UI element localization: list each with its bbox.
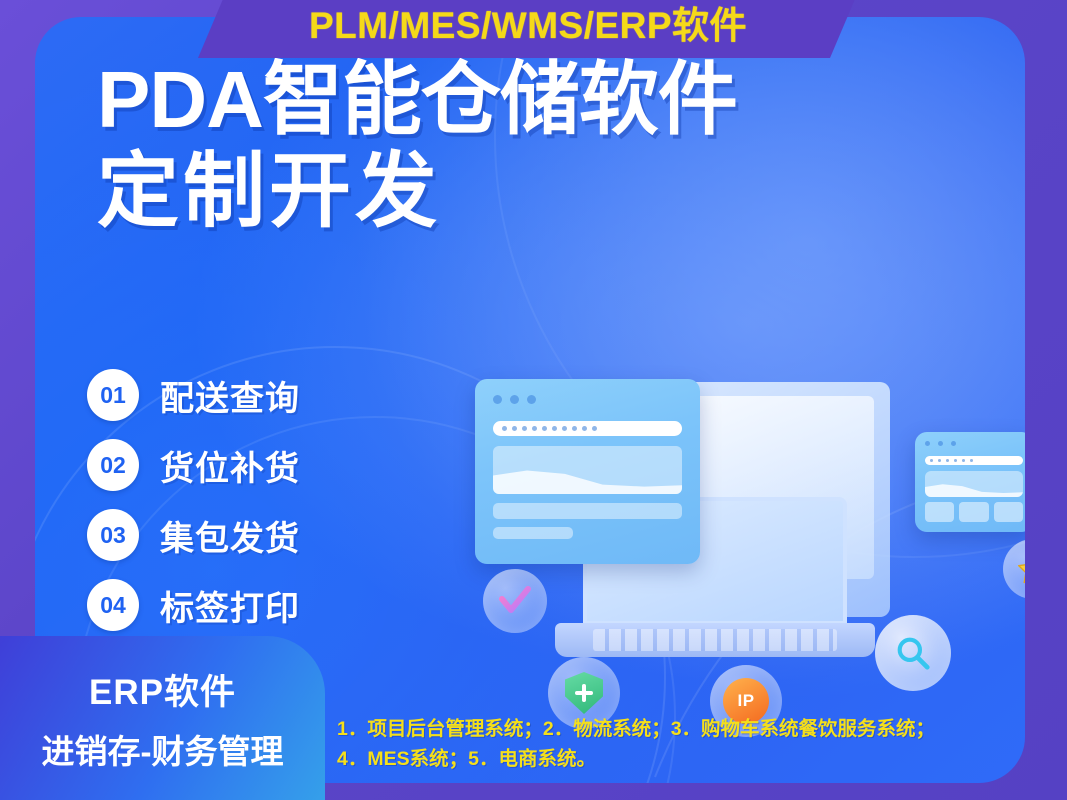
system-notes-line-1: 1．项目后台管理系统；2．物流系统；3．购物车系统餐饮服务系统； (337, 714, 1067, 744)
window-dot (938, 441, 943, 446)
search-icon (875, 615, 951, 691)
feature-number: 03 (87, 509, 139, 561)
feature-number: 01 (87, 369, 139, 421)
window-dots (493, 395, 536, 404)
window-tiles (925, 502, 1023, 522)
bar-dot (502, 426, 507, 431)
check-icon (483, 569, 547, 633)
bar-dot (542, 426, 547, 431)
feature-label: 配送查询 (160, 371, 300, 420)
feature-item-02: 02 货位补货 (87, 439, 300, 491)
erp-panel-subtitle: 进销存-财务管理 (42, 725, 284, 773)
headline-line-1: PDA智能仓储软件 (97, 59, 737, 141)
bar-dot (954, 459, 957, 462)
poster-stage: IP PDA智能仓储软件 定制开发 01 配送查询 (0, 0, 1067, 800)
chart-wave (925, 479, 1023, 497)
tile (959, 502, 988, 522)
window-dot (951, 441, 956, 446)
window-chart (493, 446, 682, 494)
feature-number: 02 (87, 439, 139, 491)
bar-dot (592, 426, 597, 431)
window-row (493, 527, 573, 539)
illustration: IP (435, 347, 1025, 737)
tile (925, 502, 954, 522)
window-chart (925, 471, 1023, 497)
window-row (493, 503, 682, 519)
feature-item-03: 03 集包发货 (87, 509, 300, 561)
headline-line-2: 定制开发 (97, 149, 737, 235)
bar-dot (532, 426, 537, 431)
erp-panel-title: ERP软件 (89, 664, 236, 715)
bar-dot (970, 459, 973, 462)
window-dots (925, 441, 956, 446)
star-icon (1003, 539, 1025, 599)
feature-list: 01 配送查询 02 货位补货 03 集包发货 04 标签打印 (87, 369, 300, 649)
window-dot (925, 441, 930, 446)
tile (994, 502, 1023, 522)
laptop-keyboard (593, 629, 837, 651)
bar-dot (938, 459, 941, 462)
feature-item-01: 01 配送查询 (87, 369, 300, 421)
bar-dot (582, 426, 587, 431)
system-notes: 1．项目后台管理系统；2．物流系统；3．购物车系统餐饮服务系统； 4．MES系统… (337, 714, 1067, 774)
shield-shape (565, 672, 603, 714)
address-bar (925, 456, 1023, 465)
erp-panel: ERP软件 进销存-财务管理 (0, 636, 325, 800)
bar-dot (930, 459, 933, 462)
bar-dot (572, 426, 577, 431)
bar-dot (562, 426, 567, 431)
bar-dot (946, 459, 949, 462)
feature-number: 04 (87, 579, 139, 631)
feature-label: 标签打印 (160, 581, 300, 630)
chart-wave (493, 460, 682, 494)
address-bar (493, 421, 682, 436)
feature-item-04: 04 标签打印 (87, 579, 300, 631)
bar-dot (512, 426, 517, 431)
bar-dot (522, 426, 527, 431)
browser-window-small (915, 432, 1025, 532)
window-dot (510, 395, 519, 404)
bar-dot (552, 426, 557, 431)
ribbon-label: PLM/MES/WMS/ERP软件 (309, 7, 747, 44)
bar-dot (962, 459, 965, 462)
system-notes-line-2: 4．MES系统；5．电商系统。 (337, 744, 1067, 774)
top-ribbon-banner: PLM/MES/WMS/ERP软件 (198, 0, 858, 58)
feature-label: 货位补货 (160, 441, 300, 490)
browser-window-large (475, 379, 700, 564)
feature-label: 集包发货 (160, 511, 300, 560)
headline-block: PDA智能仓储软件 定制开发 (97, 59, 737, 235)
window-dot (493, 395, 502, 404)
window-dot (527, 395, 536, 404)
